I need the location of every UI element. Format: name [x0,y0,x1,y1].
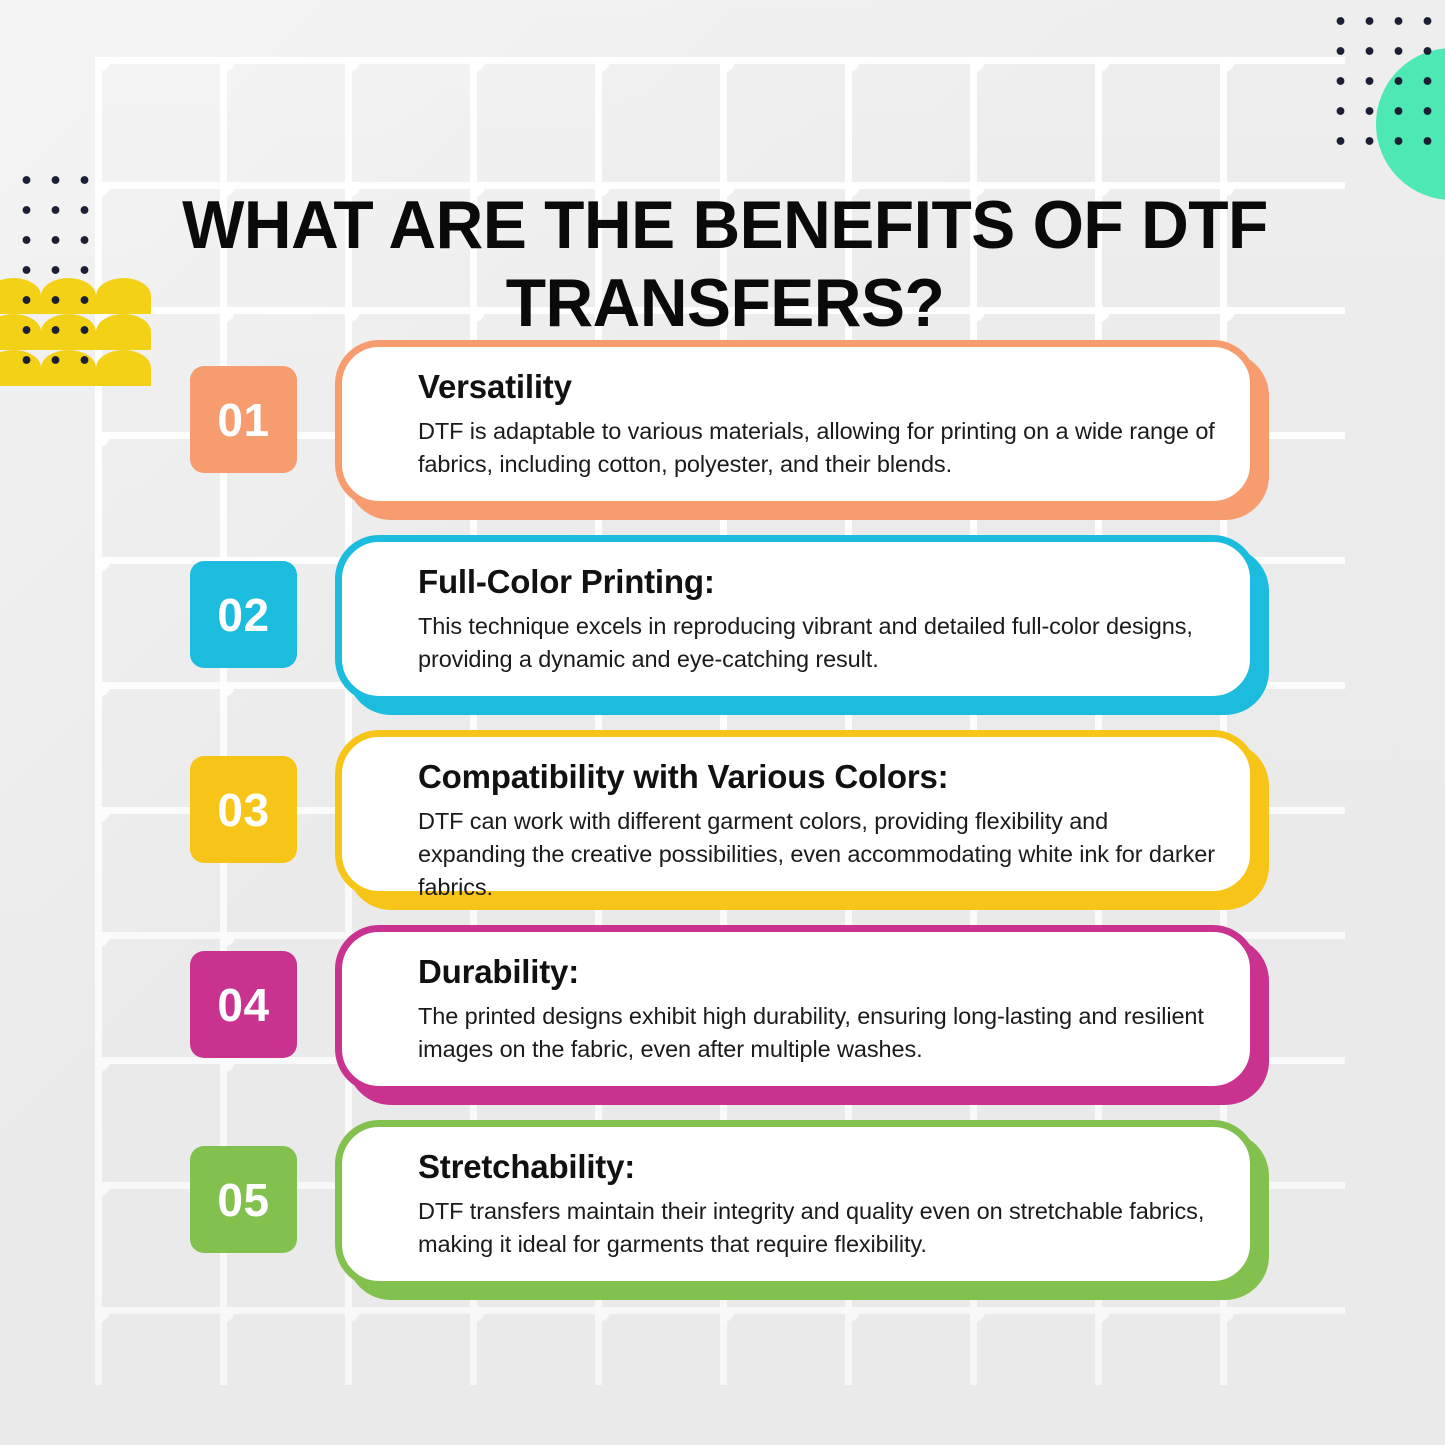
page-title: WHAT ARE THE BENEFITS OF DTF TRANSFERS? [167,186,1283,342]
list-item: 02 Full-Color Printing: This technique e… [0,535,1445,730]
card-body-text: The printed designs exhibit high durabil… [418,1000,1216,1066]
card-surface: Versatility DTF is adaptable to various … [335,340,1257,508]
list-item: 05 Stretchability: DTF transfers maintai… [0,1120,1445,1315]
benefit-card: Stretchability: DTF transfers maintain t… [335,1120,1257,1288]
list-item: 01 Versatility DTF is adaptable to vario… [0,340,1445,535]
card-body-text: DTF can work with different garment colo… [418,805,1216,904]
benefit-card: Versatility DTF is adaptable to various … [335,340,1257,508]
background-margin-bottom [0,1385,1445,1445]
benefit-card: Full-Color Printing: This technique exce… [335,535,1257,703]
dot-grid-icon-left [12,165,98,365]
card-heading: Versatility [418,367,1216,407]
card-body-text: This technique excels in reproducing vib… [418,610,1216,676]
benefits-list: 01 Versatility DTF is adaptable to vario… [0,340,1445,1315]
card-heading: Durability: [418,952,1216,992]
list-item: 04 Durability: The printed designs exhib… [0,925,1445,1120]
list-item: 03 Compatibility with Various Colors: DT… [0,730,1445,925]
card-body-text: DTF is adaptable to various materials, a… [418,415,1216,481]
card-heading: Compatibility with Various Colors: [418,757,1216,797]
benefit-card: Durability: The printed designs exhibit … [335,925,1257,1093]
item-number-badge: 04 [190,951,297,1058]
infographic-poster: WHAT ARE THE BENEFITS OF DTF TRANSFERS? … [0,0,1445,1445]
item-number-badge: 02 [190,561,297,668]
card-heading: Stretchability: [418,1147,1216,1187]
card-heading: Full-Color Printing: [418,562,1216,602]
item-number-badge: 03 [190,756,297,863]
item-number-badge: 01 [190,366,297,473]
card-surface: Compatibility with Various Colors: DTF c… [335,730,1257,898]
half-disc-icon [96,278,151,314]
item-number-badge: 05 [190,1146,297,1253]
background-margin-top [0,0,1445,57]
card-surface: Durability: The printed designs exhibit … [335,925,1257,1093]
benefit-card: Compatibility with Various Colors: DTF c… [335,730,1257,898]
card-body-text: DTF transfers maintain their integrity a… [418,1195,1216,1261]
card-surface: Stretchability: DTF transfers maintain t… [335,1120,1257,1288]
dot-grid-icon-top-right [1326,6,1438,166]
card-surface: Full-Color Printing: This technique exce… [335,535,1257,703]
